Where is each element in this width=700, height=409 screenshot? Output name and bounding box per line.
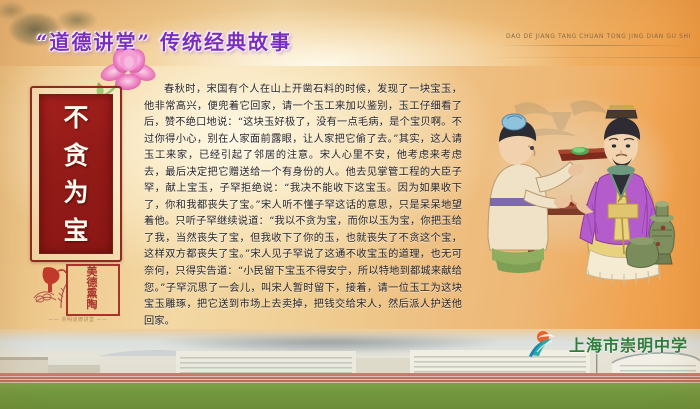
pinyin-divider <box>498 45 690 46</box>
seal-characters: 美 德 熏 陶 <box>70 266 114 310</box>
story-title-plaque: 不 贪 为 宝 <box>30 86 122 262</box>
story-body-text: 春秋时，宋国有个人在山上开凿石料的时候，发现了一块宝玉，他非常高兴，便兜着它回家… <box>144 82 462 330</box>
poster-canvas: “道德讲堂” 传统经典故事 DAO DE JIANG TANG CHUAN TO… <box>0 0 700 409</box>
school-brand: 上海市崇明中学 <box>527 330 693 358</box>
plaque-char-3: 为 <box>63 180 88 205</box>
school-name: 上海市崇明中学 <box>569 332 688 356</box>
photo-sports-field <box>0 383 700 409</box>
seal-caption: —— 崇明道德讲堂 —— <box>28 316 128 323</box>
plaque-char-2: 贪 <box>63 143 88 168</box>
seal-char-4: 陶 <box>87 299 98 310</box>
school-logo-icon <box>527 330 563 358</box>
header-divider <box>470 57 700 58</box>
plaque-char-1: 不 <box>63 105 88 130</box>
story-illustration <box>466 78 694 308</box>
plaque-title-text: 不 贪 为 宝 <box>30 92 122 256</box>
plaque-char-4: 宝 <box>63 218 88 243</box>
page-title-pinyin: DAO DE JIANG TANG CHUAN TONG JING DIAN G… <box>506 33 691 40</box>
virtue-seal-logo: 美 德 熏 陶 —— 崇明道德讲堂 —— <box>28 264 120 318</box>
